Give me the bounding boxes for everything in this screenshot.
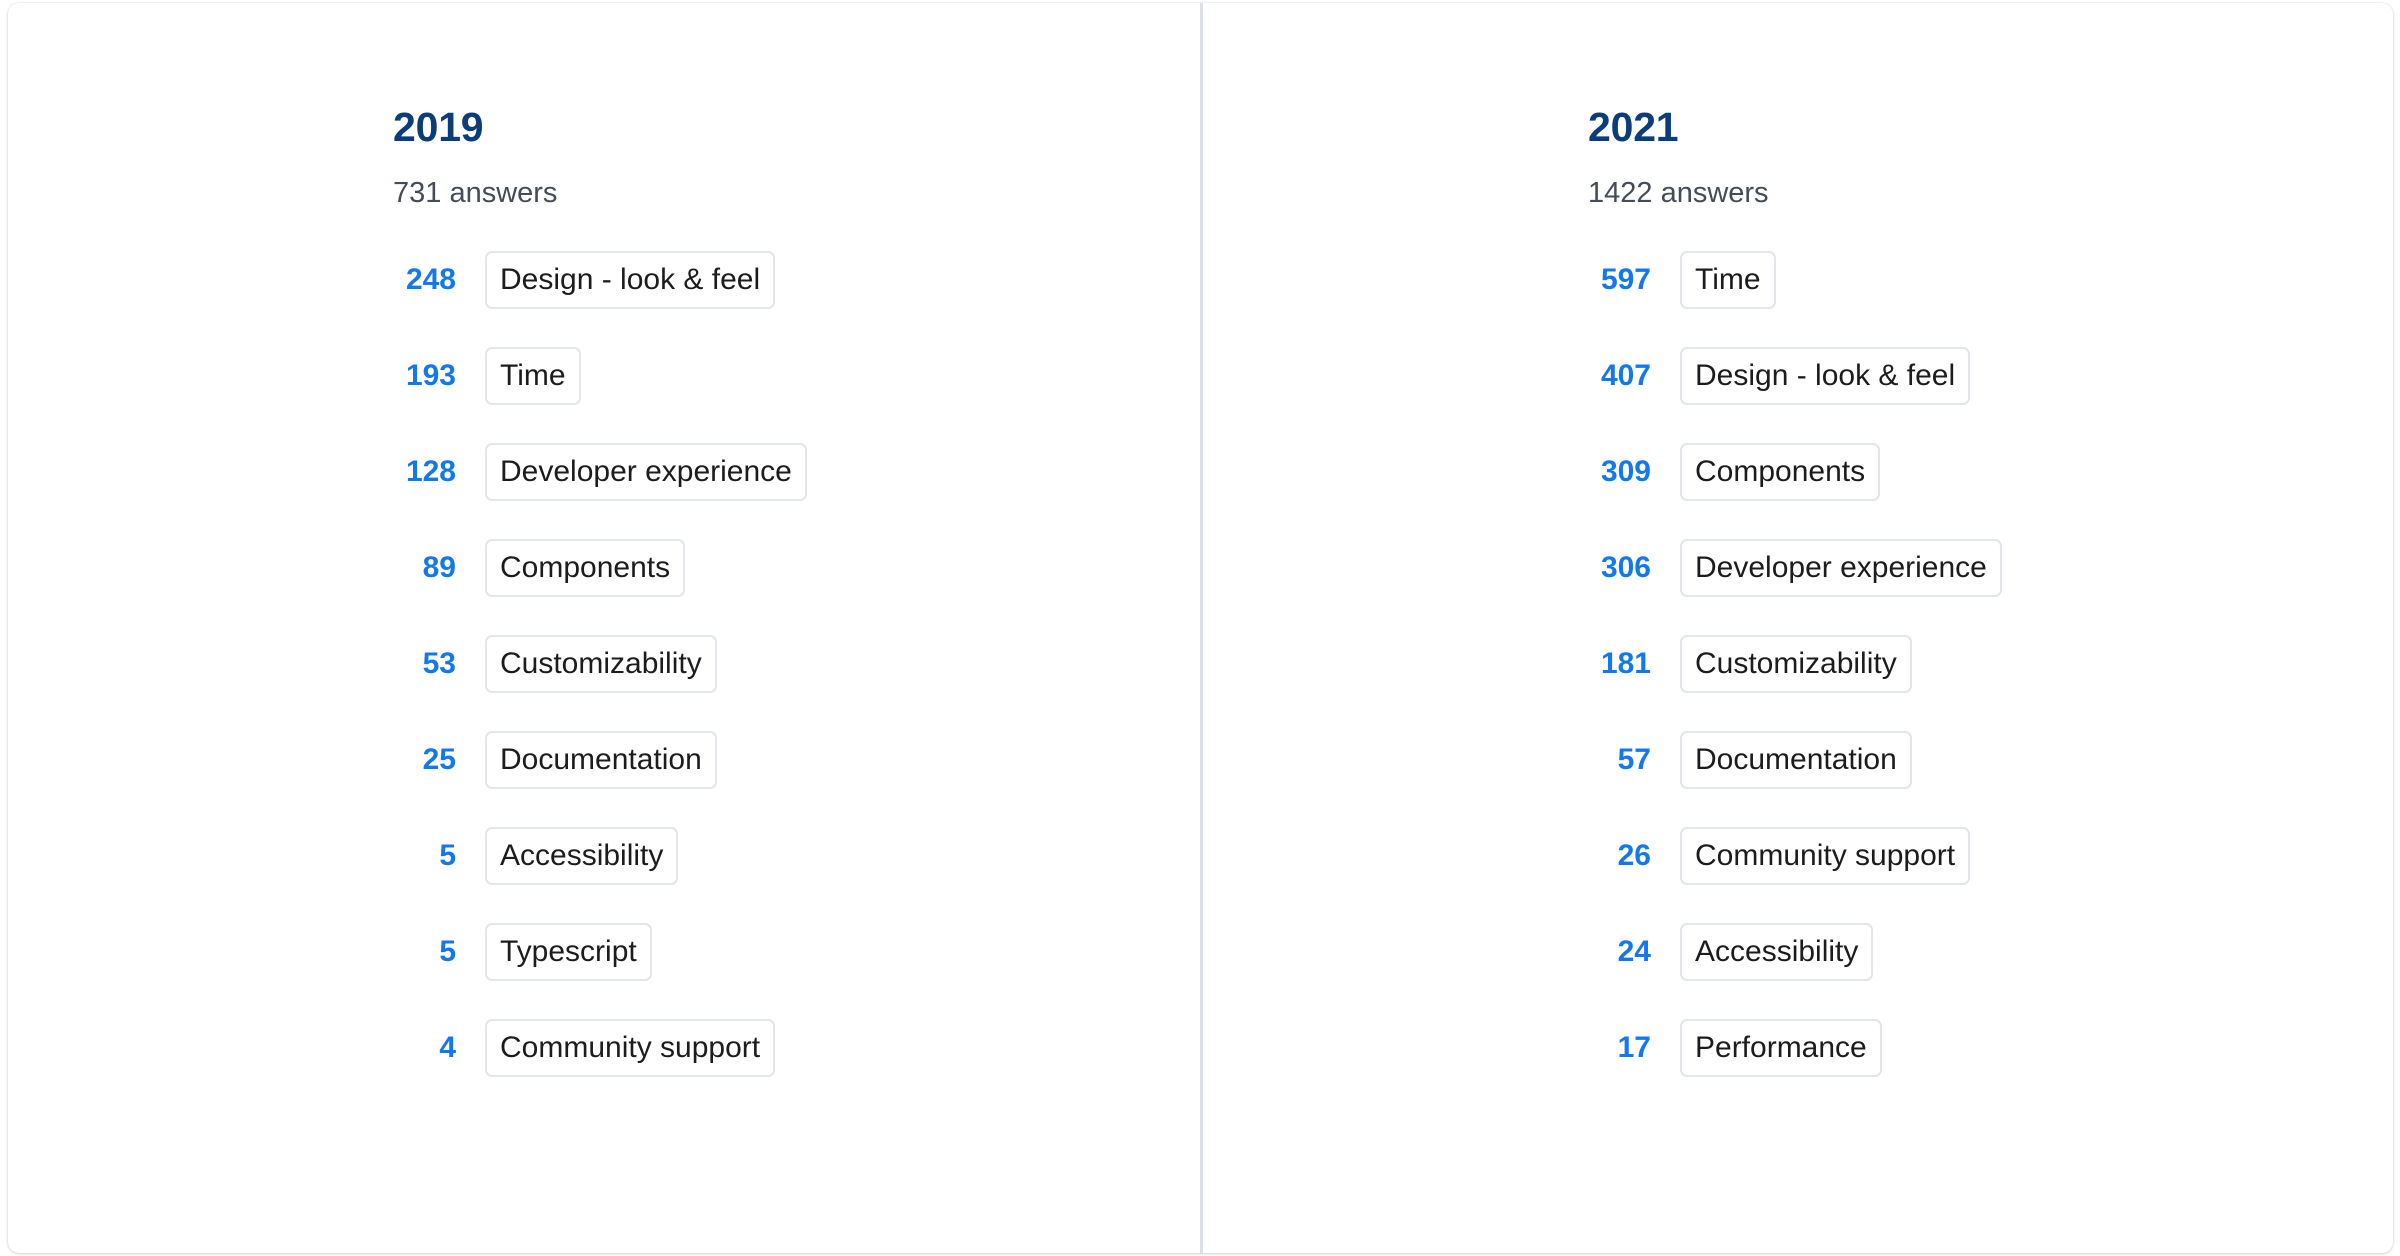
list-item[interactable]: 53 Customizability [393,635,1200,693]
row-label-pill[interactable]: Typescript [485,923,652,981]
row-label-pill[interactable]: Documentation [485,731,717,789]
panel-2019: 2019 731 answers 248 Design - look & fee… [8,3,1200,1253]
list-item[interactable]: 24 Accessibility [1588,923,2393,981]
row-count: 4 [393,1033,456,1063]
row-count: 309 [1588,457,1651,487]
panel-2021-row-list: 597 Time 407 Design - look & feel 309 Co… [1588,251,2393,1077]
row-count: 193 [393,361,456,391]
row-count: 25 [393,745,456,775]
panel-2021-year: 2021 [1588,107,2393,148]
row-label-pill[interactable]: Community support [485,1019,775,1077]
row-label-pill[interactable]: Design - look & feel [1680,347,1970,405]
panel-2021-answers-count: 1422 answers [1588,179,2393,208]
list-item[interactable]: 5 Typescript [393,923,1200,981]
list-item[interactable]: 57 Documentation [1588,731,2393,789]
row-count: 306 [1588,553,1651,583]
row-count: 5 [393,841,456,871]
panel-2021-content: 2021 1422 answers 597 Time 407 Design - … [1203,3,2393,1077]
list-item[interactable]: 25 Documentation [393,731,1200,789]
row-count: 89 [393,553,456,583]
row-label-pill[interactable]: Time [485,347,581,405]
list-item[interactable]: 89 Components [393,539,1200,597]
comparison-card: 2019 731 answers 248 Design - look & fee… [8,3,2393,1253]
row-count: 53 [393,649,456,679]
panel-2019-year: 2019 [393,107,1200,148]
panel-2019-answers-count: 731 answers [393,179,1200,208]
row-count: 128 [393,457,456,487]
panel-2019-row-list: 248 Design - look & feel 193 Time 128 De… [393,251,1200,1077]
row-label-pill[interactable]: Time [1680,251,1776,309]
list-item[interactable]: 306 Developer experience [1588,539,2393,597]
list-item[interactable]: 248 Design - look & feel [393,251,1200,309]
row-count: 57 [1588,745,1651,775]
list-item[interactable]: 597 Time [1588,251,2393,309]
row-count: 17 [1588,1033,1651,1063]
panel-2019-content: 2019 731 answers 248 Design - look & fee… [8,3,1200,1077]
list-item[interactable]: 128 Developer experience [393,443,1200,501]
list-item[interactable]: 181 Customizability [1588,635,2393,693]
list-item[interactable]: 5 Accessibility [393,827,1200,885]
row-count: 407 [1588,361,1651,391]
row-count: 248 [393,265,456,295]
panel-2021: 2021 1422 answers 597 Time 407 Design - … [1200,3,2393,1253]
row-count: 26 [1588,841,1651,871]
row-label-pill[interactable]: Customizability [485,635,717,693]
list-item[interactable]: 309 Components [1588,443,2393,501]
list-item[interactable]: 26 Community support [1588,827,2393,885]
row-count: 24 [1588,937,1651,967]
row-label-pill[interactable]: Design - look & feel [485,251,775,309]
row-label-pill[interactable]: Developer experience [485,443,807,501]
row-label-pill[interactable]: Developer experience [1680,539,2002,597]
row-label-pill[interactable]: Components [485,539,685,597]
row-label-pill[interactable]: Accessibility [485,827,678,885]
row-label-pill[interactable]: Documentation [1680,731,1912,789]
list-item[interactable]: 4 Community support [393,1019,1200,1077]
row-count: 5 [393,937,456,967]
row-label-pill[interactable]: Customizability [1680,635,1912,693]
row-label-pill[interactable]: Components [1680,443,1880,501]
list-item[interactable]: 193 Time [393,347,1200,405]
row-label-pill[interactable]: Performance [1680,1019,1882,1077]
row-count: 181 [1588,649,1651,679]
list-item[interactable]: 17 Performance [1588,1019,2393,1077]
list-item[interactable]: 407 Design - look & feel [1588,347,2393,405]
row-count: 597 [1588,265,1651,295]
row-label-pill[interactable]: Accessibility [1680,923,1873,981]
row-label-pill[interactable]: Community support [1680,827,1970,885]
